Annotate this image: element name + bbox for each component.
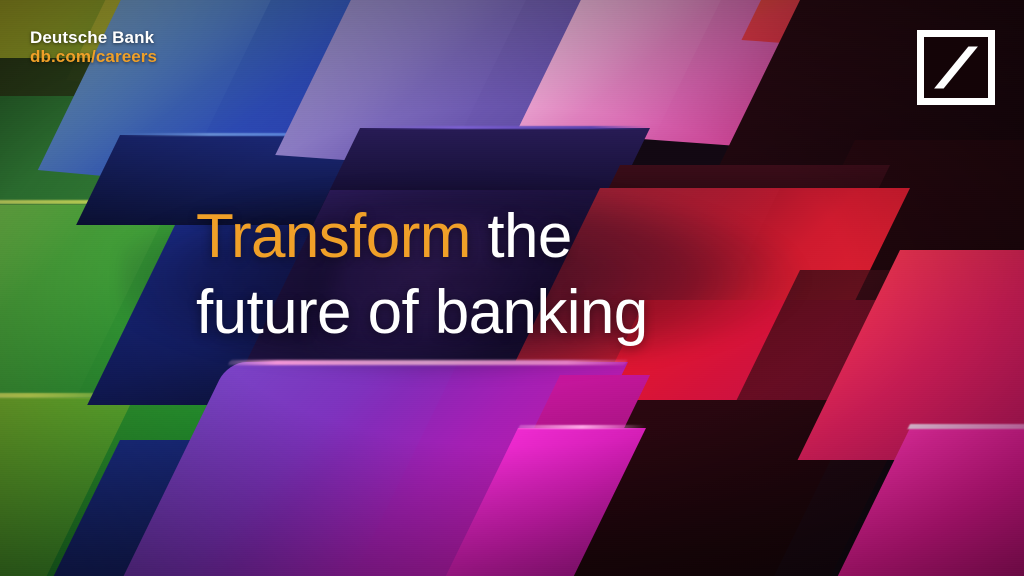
banner-root: Deutsche Bank db.com/careers Transform t… <box>0 0 1024 576</box>
brand-careers-url[interactable]: db.com/careers <box>30 47 157 66</box>
headline-line-2: future of banking <box>196 282 796 344</box>
headline-accent-word: Transform <box>196 202 471 271</box>
headline-line-1: Transform the <box>196 206 796 268</box>
headline: Transform the future of banking <box>196 206 796 344</box>
deutsche-bank-logo[interactable] <box>917 30 995 105</box>
headline-line-1-rest: the <box>471 202 572 271</box>
brand-lockup: Deutsche Bank db.com/careers <box>30 28 157 66</box>
deutsche-bank-slash-icon <box>924 37 988 98</box>
cube-purple-foreground-edge-highlight <box>228 360 628 365</box>
brand-name: Deutsche Bank <box>30 28 157 47</box>
cube-violet-edge-highlight <box>359 126 650 129</box>
cube-magenta-bottom-right-highlight <box>908 424 1024 429</box>
